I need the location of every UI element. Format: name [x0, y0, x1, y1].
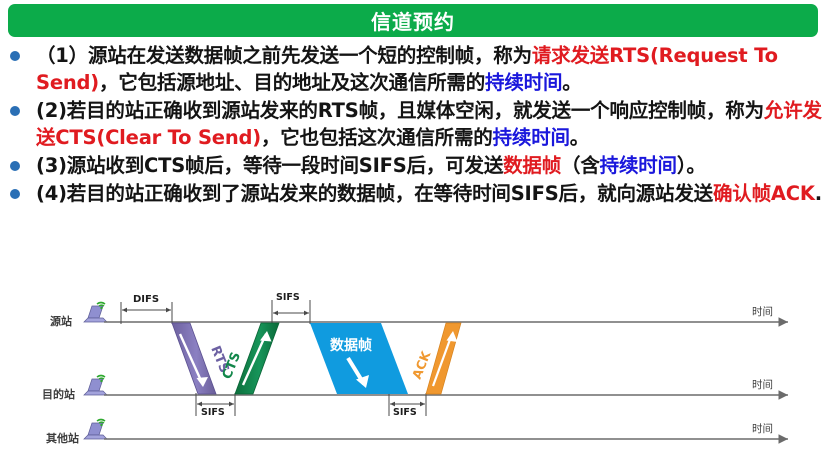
- interval-sifs-2: SIFS: [272, 292, 310, 324]
- station-other-label: 其他站: [46, 431, 79, 445]
- bullet-3-seg-3: 持续时间: [600, 154, 677, 177]
- list-item: (4)若目的站正确收到了源站发来的数据帧，在等待时间SIFS后，就向源站发送确认…: [0, 180, 830, 207]
- page-title: 信道预约: [371, 6, 455, 35]
- station-destination-label: 目的站: [42, 387, 75, 401]
- frame-ack-label: ACK: [409, 348, 434, 381]
- time-axis-label-other: 时间: [752, 422, 773, 435]
- bullet-2-seg-4: 。: [570, 126, 589, 149]
- bullet-4-seg-0: (4)若目的站正确收到了源站发来的数据帧，在等待时间SIFS后，就向源站发送: [36, 182, 713, 205]
- bullet-1-seg-4: 。: [562, 71, 581, 94]
- station-source-label-group: 源站: [50, 314, 72, 328]
- bullet-dot-icon: [10, 161, 20, 171]
- bullet-2-seg-2: ，它也包括这次通信所需的: [261, 126, 493, 149]
- bullet-dot-icon: [10, 106, 20, 116]
- bullet-2-seg-0: (2)若目的站正确收到源站发来的RTS帧，且媒体空闲，就发送一个响应控制帧，称为: [36, 99, 764, 122]
- bullet-4-text: (4)若目的站正确收到了源站发来的数据帧，在等待时间SIFS后，就向源站发送确认…: [36, 180, 830, 207]
- station-source-label: 源站: [50, 314, 72, 328]
- page-title-bar: 信道预约: [8, 4, 818, 37]
- interval-sifs-3: SIFS: [389, 393, 426, 418]
- interval-sifs-1: SIFS: [196, 393, 235, 418]
- bullet-4-seg-1: 确认帧ACK: [713, 182, 815, 205]
- time-axis-label-source: 时间: [752, 305, 773, 318]
- bullet-1-text: （1）源站在发送数据帧之前先发送一个短的控制帧，称为请求发送RTS(Reques…: [36, 42, 830, 96]
- frame-data: 数据帧: [310, 323, 408, 394]
- interval-sifs-2-label: SIFS: [276, 292, 300, 303]
- bullet-dot-icon: [10, 51, 20, 61]
- list-item: (3)源站收到CTS帧后，等待一段时间SIFS后，可发送数据帧（含持续时间）。: [0, 152, 830, 179]
- laptop-icon: [84, 303, 107, 323]
- frame-rts: RTS: [172, 323, 232, 394]
- station-other-label-group: 其他站: [46, 431, 79, 445]
- time-axis-label-destination: 时间: [752, 378, 773, 391]
- bullet-3-seg-2: （含: [561, 154, 600, 177]
- bullet-2-text: (2)若目的站正确收到源站发来的RTS帧，且媒体空闲，就发送一个响应控制帧，称为…: [36, 97, 830, 151]
- frame-data-label: 数据帧: [330, 337, 372, 354]
- bullet-dot-icon: [10, 189, 20, 199]
- list-item: （1）源站在发送数据帧之前先发送一个短的控制帧，称为请求发送RTS(Reques…: [0, 42, 830, 96]
- interval-difs: DIFS: [121, 294, 172, 324]
- bullet-1-seg-3: 持续时间: [485, 71, 562, 94]
- laptop-icon: [84, 420, 107, 440]
- bullet-3-text: (3)源站收到CTS帧后，等待一段时间SIFS后，可发送数据帧（含持续时间）。: [36, 152, 830, 179]
- bullet-2-seg-3: 持续时间: [493, 126, 570, 149]
- bullet-1-seg-2: ，它包括源地址、目的地址及这次通信所需的: [99, 71, 485, 94]
- frame-cts: CTS: [220, 323, 279, 394]
- bullet-3-seg-0: (3)源站收到CTS帧后，等待一段时间SIFS后，可发送: [36, 154, 503, 177]
- station-destination-label-group: 目的站: [42, 387, 75, 401]
- bullet-3-seg-4: ）。: [677, 154, 706, 177]
- laptop-icon: [84, 376, 107, 396]
- bullet-3-seg-1: 数据帧: [503, 154, 561, 177]
- frame-ack: ACK: [409, 323, 461, 394]
- list-item: (2)若目的站正确收到源站发来的RTS帧，且媒体空闲，就发送一个响应控制帧，称为…: [0, 97, 830, 151]
- rts-cts-timing-diagram: 源站 目的站 其他站 时间 时间 时间: [0, 288, 830, 455]
- interval-difs-label: DIFS: [133, 294, 159, 305]
- bullet-4-seg-2: .: [815, 182, 822, 205]
- interval-sifs-3-label: SIFS: [393, 407, 417, 418]
- bullet-list: （1）源站在发送数据帧之前先发送一个短的控制帧，称为请求发送RTS(Reques…: [0, 42, 830, 208]
- bullet-1-seg-0: （1）源站在发送数据帧之前先发送一个短的控制帧，称为: [36, 44, 532, 67]
- interval-sifs-1-label: SIFS: [201, 407, 225, 418]
